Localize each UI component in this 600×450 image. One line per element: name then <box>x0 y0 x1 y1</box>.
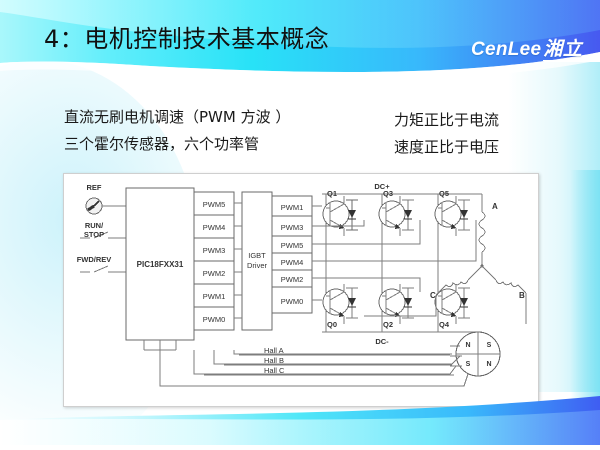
winding-b <box>496 280 518 287</box>
label-mcu-out-0: PWM5 <box>203 200 226 209</box>
label-q3: Q3 <box>383 189 393 198</box>
bullet-left-2: 三个霍尔传感器，六个功率管 <box>64 131 364 158</box>
label-fwd-rev: FWD/REV <box>77 255 112 264</box>
bldc-circuit-schematic: REF RUN/ STOP FWD/REV PIC18FXX31 PWM5 PW… <box>64 174 536 404</box>
page-title: 4：电机控制技术基本概念 <box>44 19 329 54</box>
bullet-column-right: 力矩正比于电流 速度正比于电压 <box>394 107 594 161</box>
label-rotor-pole-0: N <box>465 342 470 349</box>
label-ref: REF <box>87 183 102 192</box>
label-rotor-pole-2: S <box>466 361 471 368</box>
label-mcu-out-1: PWM4 <box>203 223 226 232</box>
label-terminal-c: C <box>430 291 436 300</box>
label-drv-out-4: PWM2 <box>281 275 304 284</box>
label-hall-c: Hall C <box>264 366 285 375</box>
background-strip-right-inner <box>570 170 600 405</box>
label-mcu-out-2: PWM3 <box>203 246 226 255</box>
label-q2: Q2 <box>383 320 393 329</box>
label-dc-minus: DC- <box>375 337 389 346</box>
label-q1: Q1 <box>327 189 337 198</box>
label-q4: Q4 <box>439 320 450 329</box>
label-run-stop-2: STOP <box>84 230 104 239</box>
hall-b-wire <box>214 350 460 364</box>
bullet-column-left: 直流无刷电机调速（PWM 方波 ） 三个霍尔传感器，六个功率管 <box>64 104 364 158</box>
brand-latin: CenLee <box>471 39 541 60</box>
label-drv-out-5: PWM0 <box>281 297 304 306</box>
label-drv-out-2: PWM5 <box>281 241 304 250</box>
brand-logo: CenLee湘立 <box>471 34 582 61</box>
label-q0: Q0 <box>327 320 337 329</box>
slide-footer <box>0 390 600 450</box>
label-driver-2: Driver <box>247 261 268 270</box>
label-mcu-out-3: PWM2 <box>203 269 226 278</box>
label-driver-1: IGBT <box>248 251 266 260</box>
label-q5: Q5 <box>439 189 449 198</box>
label-terminal-b: B <box>519 291 525 300</box>
label-drv-out-3: PWM4 <box>281 258 304 267</box>
label-terminal-a: A <box>492 202 498 211</box>
label-drv-out-0: PWM1 <box>281 203 304 212</box>
label-mcu-out-4: PWM1 <box>203 292 226 301</box>
label-mcu: PIC18FXX31 <box>137 260 184 269</box>
label-drv-out-1: PWM3 <box>281 223 304 232</box>
label-rotor-pole-3: N <box>486 361 491 368</box>
winding-c <box>446 280 468 287</box>
label-rotor-pole-1: S <box>487 342 492 349</box>
slide-header: 4：电机控制技术基本概念 CenLee湘立 <box>0 0 600 80</box>
bullet-right-1: 力矩正比于电流 <box>394 107 594 134</box>
brand-cn: 湘立 <box>543 38 582 61</box>
winding-a <box>479 212 485 252</box>
bullet-right-2: 速度正比于电压 <box>394 134 594 161</box>
footer-wave-graphic <box>0 390 600 450</box>
label-hall-a: Hall A <box>264 346 284 355</box>
slide: 4：电机控制技术基本概念 CenLee湘立 直流无刷电机调速（PWM 方波 ） … <box>0 0 600 450</box>
label-run-stop-1: RUN/ <box>85 221 104 230</box>
label-mcu-out-5: PWM0 <box>203 315 226 324</box>
bullet-left-1: 直流无刷电机调速（PWM 方波 ） <box>64 104 364 131</box>
bldc-circuit-diagram-panel: REF RUN/ STOP FWD/REV PIC18FXX31 PWM5 PW… <box>63 173 539 407</box>
label-hall-b: Hall B <box>264 356 284 365</box>
